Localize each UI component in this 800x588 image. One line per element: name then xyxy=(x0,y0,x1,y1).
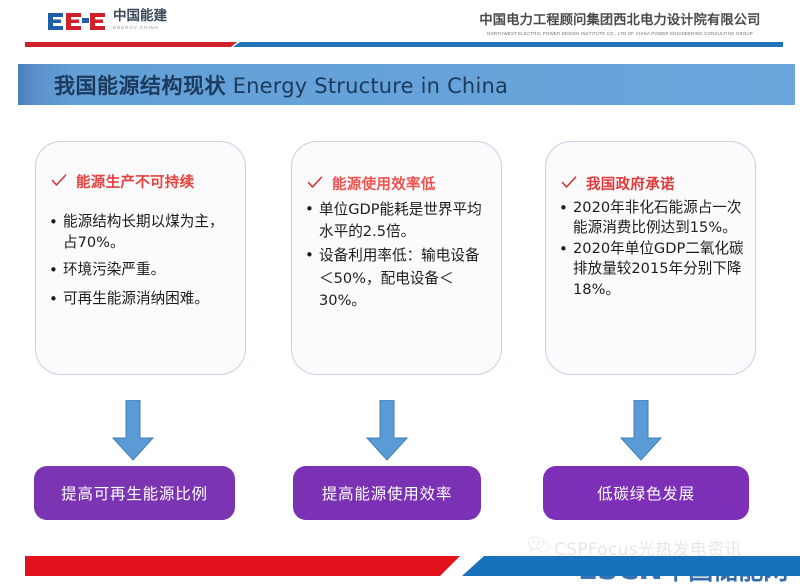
bullet-text: 单位GDP能耗是世界平均水平的2.5倍。 xyxy=(319,199,491,243)
check-icon xyxy=(561,175,577,191)
bullet-dot-icon: • xyxy=(559,198,573,219)
outcome-box-renewable-share: 提高可再生能源比例 xyxy=(34,466,235,520)
bullet-text: 环境污染严重。 xyxy=(63,260,235,281)
bullet-dot-icon: • xyxy=(49,260,63,281)
check-icon xyxy=(51,173,67,189)
page-title: 我国能源结构现状 Energy Structure in China xyxy=(54,70,508,100)
outcome-box-low-carbon-development: 低碳绿色发展 xyxy=(543,466,749,520)
issue-card-government-commitment: 我国政府承诺 •2020年非化石能源占一次能源消费比例达到15%。 •2020年… xyxy=(545,141,756,375)
outcome-label: 提高可再生能源比例 xyxy=(61,482,208,504)
list-item: •环境污染严重。 xyxy=(49,260,235,281)
bullet-text: 设备利用率低：输电设备＜50%，配电设备＜30%。 xyxy=(319,245,491,312)
bullet-dot-icon: • xyxy=(49,212,63,233)
list-item: •2020年单位GDP二氧化碳排放量较2015年分别下降18%。 xyxy=(559,239,745,299)
outcome-label: 低碳绿色发展 xyxy=(597,482,695,504)
arrow-down-icon xyxy=(617,400,665,462)
card-title: 能源使用效率低 xyxy=(332,173,436,194)
ceec-logo-icon xyxy=(46,11,106,30)
card-bullet-list: •能源结构长期以煤为主，占70%。 •环境污染严重。 •可再生能源消纳困难。 xyxy=(49,212,235,310)
list-item: •2020年非化石能源占一次能源消费比例达到15%。 xyxy=(559,198,745,238)
brand-name-en: ENERGY CHINA xyxy=(113,26,167,31)
page-header: 中国能建 ENERGY CHINA 中国电力工程顾问集团西北电力设计院有限公司 … xyxy=(0,0,800,44)
bullet-text: 能源结构长期以煤为主，占70%。 xyxy=(63,212,235,253)
card-title: 能源生产不可持续 xyxy=(76,171,194,192)
outcome-label: 提高能源使用效率 xyxy=(322,482,452,504)
check-icon xyxy=(307,175,323,191)
wechat-icon xyxy=(528,536,550,559)
bullet-dot-icon: • xyxy=(305,245,319,266)
header-rule-blue xyxy=(233,42,783,47)
outcome-box-energy-efficiency: 提高能源使用效率 xyxy=(293,466,481,520)
card-header: 我国政府承诺 xyxy=(561,173,755,194)
brand-logo: 中国能建 ENERGY CHINA xyxy=(46,10,167,30)
slide-title-banner: 我国能源结构现状 Energy Structure in China xyxy=(18,64,795,105)
list-item: •可再生能源消纳困难。 xyxy=(49,289,235,310)
organization-title: 中国电力工程顾问集团西北电力设计院有限公司 NORTHWEST ELECTRIC… xyxy=(452,9,788,36)
bullet-dot-icon: • xyxy=(559,239,573,260)
issue-card-energy-production: 能源生产不可持续 •能源结构长期以煤为主，占70%。 •环境污染严重。 •可再生… xyxy=(35,141,246,375)
brand-logo-text: 中国能建 ENERGY CHINA xyxy=(113,10,167,30)
footer-bar-red xyxy=(25,556,460,576)
footer-bar-blue xyxy=(462,556,800,576)
organization-name-cn: 中国电力工程顾问集团西北电力设计院有限公司 xyxy=(452,9,788,28)
issue-card-energy-efficiency: 能源使用效率低 •单位GDP能耗是世界平均水平的2.5倍。 •设备利用率低：输电… xyxy=(291,141,502,375)
list-item: •能源结构长期以煤为主，占70%。 xyxy=(49,212,235,253)
bullet-dot-icon: • xyxy=(49,289,63,310)
card-header: 能源生产不可持续 xyxy=(51,171,245,192)
brand-name-cn: 中国能建 xyxy=(113,10,167,24)
page-title-cn: 我国能源结构现状 xyxy=(54,74,226,98)
arrow-down-icon xyxy=(109,400,157,462)
card-bullet-list: •2020年非化石能源占一次能源消费比例达到15%。 •2020年单位GDP二氧… xyxy=(559,198,745,300)
card-bullet-list: •单位GDP能耗是世界平均水平的2.5倍。 •设备利用率低：输电设备＜50%，配… xyxy=(305,199,491,312)
page-title-en: Energy Structure in China xyxy=(233,74,508,98)
card-header: 能源使用效率低 xyxy=(307,173,501,194)
list-item: •单位GDP能耗是世界平均水平的2.5倍。 xyxy=(305,199,491,243)
bullet-text: 2020年非化石能源占一次能源消费比例达到15%。 xyxy=(573,198,745,238)
list-item: •设备利用率低：输电设备＜50%，配电设备＜30%。 xyxy=(305,245,491,312)
organization-name-en: NORTHWEST ELECTRIC POWER DESIGN INSTITUT… xyxy=(449,31,792,36)
card-title: 我国政府承诺 xyxy=(586,173,675,194)
header-rule-red xyxy=(25,42,237,47)
bullet-text: 2020年单位GDP二氧化碳排放量较2015年分别下降18%。 xyxy=(573,239,745,299)
bullet-dot-icon: • xyxy=(305,199,319,220)
arrow-down-icon xyxy=(363,400,411,462)
bullet-text: 可再生能源消纳困难。 xyxy=(63,289,235,310)
